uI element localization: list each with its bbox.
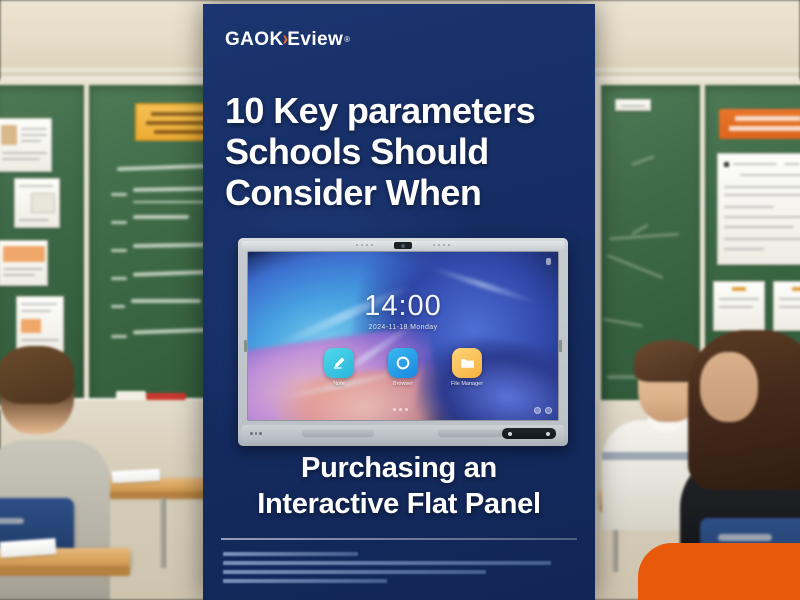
brand-logo-suffix: Eview (287, 29, 343, 51)
settings-icon[interactable] (534, 407, 541, 414)
app-shortcut-file-manager[interactable]: File Manager (446, 348, 488, 387)
interactive-flat-panel: 14:00 2024-11-18 Monday Note (238, 238, 568, 446)
orange-corner-block (638, 543, 800, 600)
app-label: File Manager (446, 381, 488, 387)
microphone-array-left (356, 244, 373, 246)
camera-module-icon (394, 242, 412, 249)
subheadline-line-2: Interactive Flat Panel (203, 486, 595, 522)
app-label: Note (318, 381, 360, 387)
microphone-array-right (433, 244, 450, 246)
tray-white-item (116, 391, 146, 400)
indicator-leds (250, 432, 262, 435)
headline-line-2: Schools Should (225, 131, 575, 172)
tray-red-item (146, 393, 186, 400)
fineprint-line (223, 561, 551, 565)
panel-screen[interactable]: 14:00 2024-11-18 Monday Note (248, 252, 558, 420)
app-label: Browser (382, 381, 424, 387)
app-shortcut-browser[interactable]: Browser (382, 348, 424, 387)
poster-fineprint (223, 552, 579, 588)
control-button-strip[interactable] (502, 428, 556, 439)
headline-line-1: 10 Key parameters (225, 90, 575, 131)
right-board-label (615, 99, 651, 111)
posted-document (717, 153, 800, 265)
poster-divider (221, 538, 577, 540)
screen-clock: 14:00 (248, 290, 558, 323)
bulletin-paper-1 (0, 118, 52, 172)
poster-subheadline: Purchasing an Interactive Flat Panel (203, 450, 595, 522)
app-shortcuts: Note Browser File (248, 348, 558, 387)
panel-bottom-bezel (242, 425, 564, 442)
wallpaper (248, 252, 558, 420)
speaker-grille-left (302, 430, 374, 437)
folder-icon[interactable] (452, 348, 482, 378)
screen-corner-controls[interactable] (534, 407, 552, 414)
camera-lens-icon (401, 244, 405, 248)
power-button-icon (508, 432, 512, 436)
right-board-banner (719, 109, 800, 139)
brand-logo: GAOK›Eview® (225, 28, 350, 51)
side-port-right (559, 340, 562, 352)
page-indicator-dots[interactable] (393, 408, 408, 411)
screen-date: 2024-11-18 Monday (248, 324, 558, 331)
posted-note-left (713, 281, 765, 331)
bulletin-paper-4 (16, 296, 64, 352)
headline-line-3: Consider When (225, 172, 575, 213)
paper-on-desk-left (112, 469, 161, 483)
browser-icon[interactable] (388, 348, 418, 378)
home-button-icon (546, 432, 550, 436)
menu-icon[interactable] (545, 407, 552, 414)
chevron-right-icon: › (282, 28, 288, 51)
pen-icon[interactable] (324, 348, 354, 378)
status-indicator-icon (546, 258, 551, 265)
posted-note-right (773, 281, 800, 331)
brand-logo-prefix: GAOK (225, 29, 284, 51)
side-port-left (244, 340, 247, 352)
fineprint-line (223, 552, 358, 556)
poster-headline: 10 Key parameters Schools Should Conside… (225, 90, 575, 213)
registered-trademark-icon: ® (344, 35, 350, 44)
screenshot-canvas: GAOK›Eview® 10 Key parameters Schools Sh… (0, 0, 800, 600)
fineprint-line (223, 579, 387, 583)
bulletin-paper-3 (0, 240, 48, 286)
app-shortcut-note[interactable]: Note (318, 348, 360, 387)
subheadline-line-1: Purchasing an (203, 450, 595, 486)
bulletin-paper-2 (14, 178, 60, 228)
fineprint-line (223, 570, 486, 574)
speaker-grille-right (438, 430, 510, 437)
